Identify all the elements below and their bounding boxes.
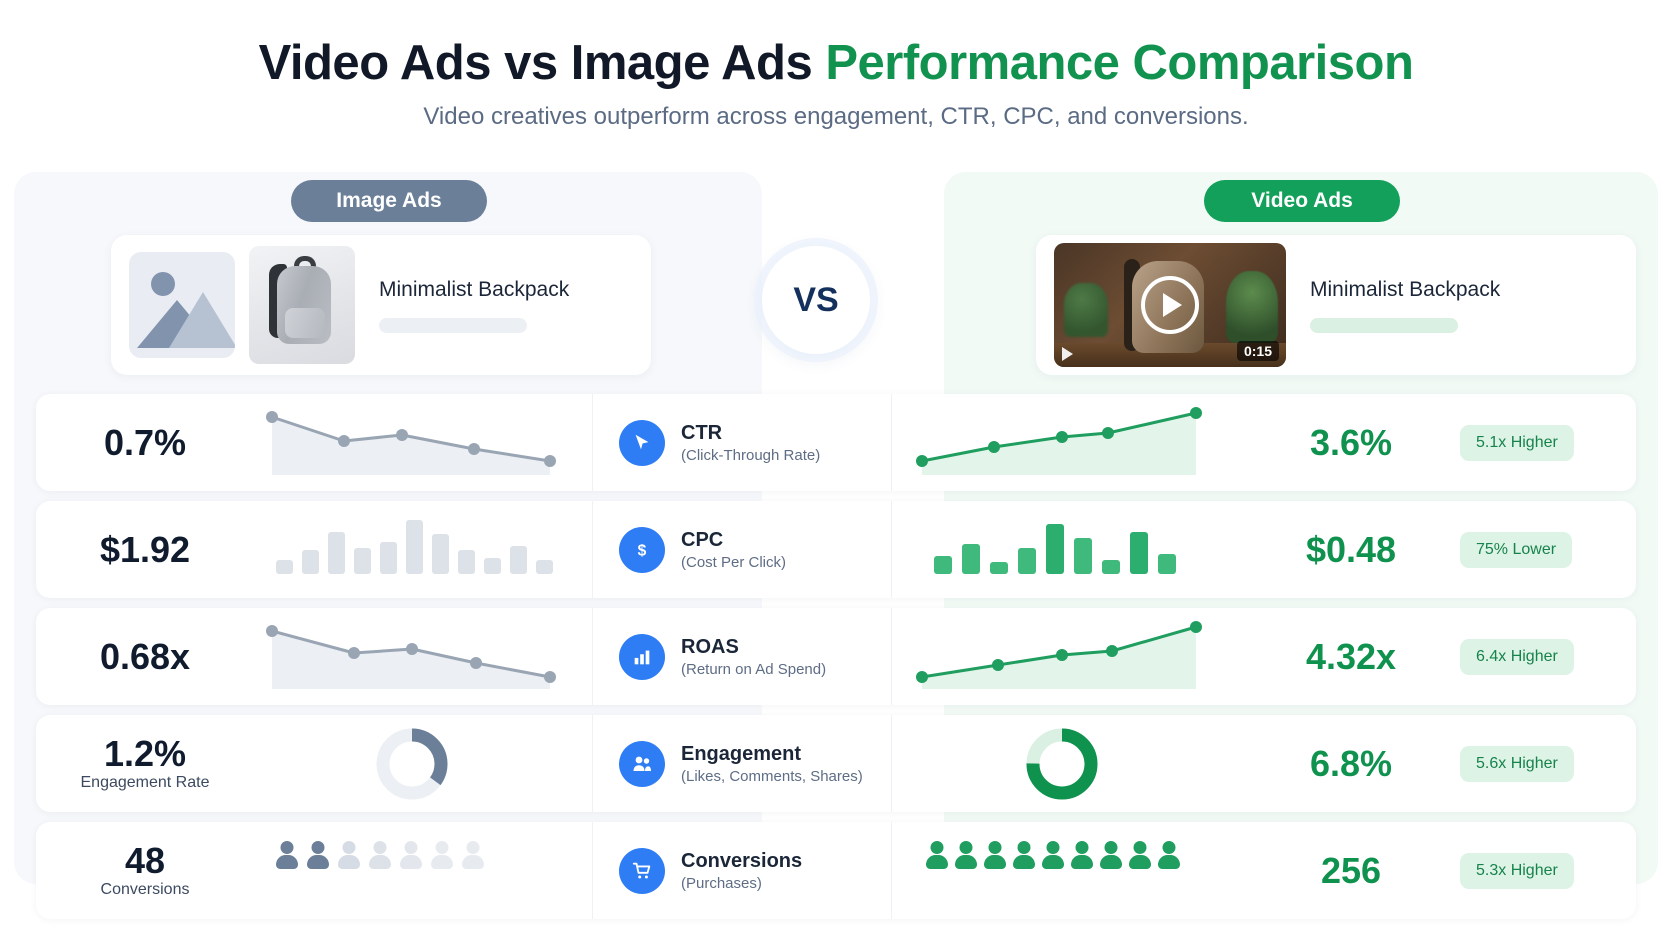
cpc-video-value-cell: $0.48 (1242, 531, 1460, 569)
page-subtitle: Video creatives outperform across engage… (0, 103, 1672, 131)
roas-name: ROAS (681, 636, 826, 659)
dollar-icon: $ (619, 527, 665, 573)
conversions-label-cell: Conversions (Purchases) (592, 822, 892, 919)
title-primary: Video Ads vs Image Ads (259, 36, 813, 90)
vs-label: VS (793, 281, 838, 320)
metric-row-roas[interactable]: 0.68x (36, 608, 1636, 705)
roas-image-value: 0.68x (36, 638, 254, 676)
image-ads-pill[interactable]: Image Ads (291, 180, 487, 222)
cart-icon (619, 848, 665, 894)
conversions-video-value: 256 (1242, 852, 1460, 890)
cursor-click-icon (619, 420, 665, 466)
image-ad-creative-card[interactable]: Minimalist Backpack (111, 235, 651, 375)
people-icon (619, 741, 665, 787)
engagement-image-sub: Engagement Rate (36, 774, 254, 792)
vs-badge: VS (762, 246, 870, 354)
conversions-badge: 5.3x Higher (1460, 853, 1574, 889)
page-title: Video Ads vs Image Ads Performance Compa… (0, 36, 1672, 91)
roas-image-value-cell: 0.68x (36, 638, 254, 676)
comparison-board: Image Ads Video Ads Minimalist Backpack … (14, 172, 1658, 932)
engagement-image-value-cell: 1.2% Engagement Rate (36, 735, 254, 793)
engagement-desc: (Likes, Comments, Shares) (681, 768, 863, 785)
image-ads-pill-label: Image Ads (336, 189, 441, 213)
conversions-video-pictogram (912, 831, 1242, 911)
conversions-name: Conversions (681, 850, 802, 873)
cpc-video-value: $0.48 (1242, 531, 1460, 569)
ctr-image-value-cell: 0.7% (36, 424, 254, 462)
video-ad-meta: Minimalist Backpack (1310, 278, 1500, 333)
image-ad-placeholder-bar (379, 318, 527, 333)
image-placeholder-icon (129, 252, 235, 358)
engagement-image-value: 1.2% (36, 735, 254, 773)
svg-text:$: $ (638, 542, 647, 559)
ctr-video-sparkline (912, 403, 1242, 483)
metric-row-ctr[interactable]: 0.7% CTR (36, 394, 1636, 491)
video-ad-title: Minimalist Backpack (1310, 278, 1500, 302)
roas-badge: 6.4x Higher (1460, 639, 1574, 675)
roas-image-sparkline (262, 617, 592, 697)
cpc-desc: (Cost Per Click) (681, 554, 786, 571)
engagement-image-donut (262, 724, 592, 804)
engagement-badge: 5.6x Higher (1460, 746, 1574, 782)
engagement-label-cell: Engagement (Likes, Comments, Shares) (592, 715, 892, 812)
video-ads-pill-label: Video Ads (1251, 189, 1353, 213)
conversions-desc: (Purchases) (681, 875, 802, 892)
ctr-label-cell: CTR (Click-Through Rate) (592, 394, 892, 491)
cpc-video-bars (912, 510, 1242, 590)
engagement-video-value-cell: 6.8% (1242, 745, 1460, 783)
conversions-image-value: 48 (36, 842, 254, 880)
metric-row-cpc[interactable]: $1.92 (36, 501, 1636, 598)
cpc-badge: 75% Lower (1460, 532, 1572, 568)
ctr-badge: 5.1x Higher (1460, 425, 1574, 461)
engagement-badge-cell: 5.6x Higher (1460, 746, 1630, 782)
video-ads-pill[interactable]: Video Ads (1204, 180, 1400, 222)
cpc-label-cell: $ CPC (Cost Per Click) (592, 501, 892, 598)
title-accent: Performance Comparison (825, 36, 1413, 90)
conversions-video-value-cell: 256 (1242, 852, 1460, 890)
engagement-video-value: 6.8% (1242, 745, 1460, 783)
play-icon[interactable] (1141, 276, 1199, 334)
image-ad-title: Minimalist Backpack (379, 278, 569, 302)
cpc-name: CPC (681, 529, 786, 552)
backpack-photo (249, 246, 355, 364)
ctr-video-value-cell: 3.6% (1242, 424, 1460, 462)
ctr-name: CTR (681, 422, 820, 445)
conversions-image-pictogram (262, 831, 592, 911)
ctr-image-sparkline (262, 403, 592, 483)
chart-up-icon (619, 634, 665, 680)
metric-rows: 0.7% CTR (36, 394, 1636, 929)
video-ad-creative-card[interactable]: 0:15 Minimalist Backpack (1036, 235, 1636, 375)
conversions-image-value-cell: 48 Conversions (36, 842, 254, 900)
roas-label-cell: ROAS (Return on Ad Spend) (592, 608, 892, 705)
metric-row-conversions[interactable]: 48 Conversions (36, 822, 1636, 919)
ctr-image-value: 0.7% (36, 424, 254, 462)
image-ad-meta: Minimalist Backpack (379, 278, 569, 333)
video-duration-label: 0:15 (1237, 341, 1279, 361)
video-thumbnail[interactable]: 0:15 (1054, 243, 1286, 367)
roas-desc: (Return on Ad Spend) (681, 661, 826, 678)
ctr-video-value: 3.6% (1242, 424, 1460, 462)
cpc-image-value-cell: $1.92 (36, 531, 254, 569)
conversions-badge-cell: 5.3x Higher (1460, 853, 1630, 889)
cpc-image-bars (262, 510, 592, 590)
roas-video-sparkline (912, 617, 1242, 697)
roas-badge-cell: 6.4x Higher (1460, 639, 1630, 675)
video-ad-placeholder-bar (1310, 318, 1458, 333)
cpc-badge-cell: 75% Lower (1460, 532, 1630, 568)
roas-video-value-cell: 4.32x (1242, 638, 1460, 676)
conversions-image-sub: Conversions (36, 881, 254, 899)
engagement-name: Engagement (681, 743, 863, 766)
infographic-page: Video Ads vs Image Ads Performance Compa… (0, 0, 1672, 941)
engagement-video-donut (912, 724, 1242, 804)
corner-play-icon (1062, 347, 1073, 361)
roas-video-value: 4.32x (1242, 638, 1460, 676)
metric-row-engagement[interactable]: 1.2% Engagement Rate (36, 715, 1636, 812)
page-header: Video Ads vs Image Ads Performance Compa… (0, 0, 1672, 131)
ctr-badge-cell: 5.1x Higher (1460, 425, 1630, 461)
ctr-desc: (Click-Through Rate) (681, 447, 820, 464)
cpc-image-value: $1.92 (36, 531, 254, 569)
